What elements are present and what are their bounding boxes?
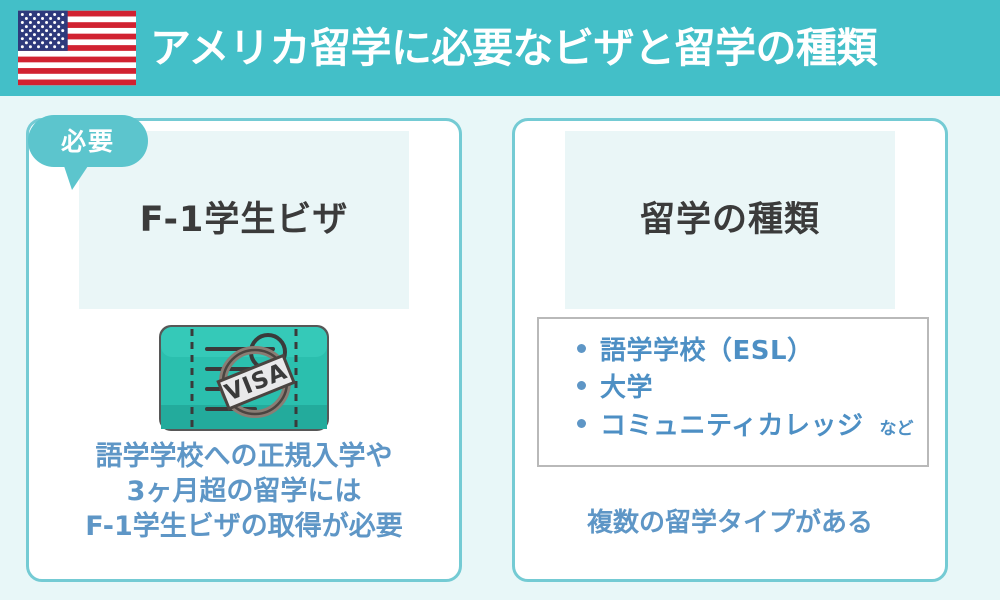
list-item: 大学 [539,371,927,405]
card-study-types: 留学の種類 語学学校（ESL） 大学 コミュニティカレッジ など 複数の留学タイ… [512,118,948,582]
caption-line-3: F-1学生ビザの取得が必要 [29,509,459,544]
list-item-label: 語学学校（ESL） [600,334,814,368]
required-badge-label: 必要 [61,129,115,154]
study-types-list: 語学学校（ESL） 大学 コミュニティカレッジ など [537,317,929,467]
page-header: アメリカ留学に必要なビザと留学の種類 [0,0,1000,96]
list-item-suffix: など [879,414,913,439]
list-item-label: コミュニティカレッジ [600,409,863,443]
required-badge: 必要 [28,115,148,167]
card-study-types-caption: 複数の留学タイプがある [515,507,945,541]
bullet-dot-icon [577,419,586,428]
visa-card-icon: VISA [155,319,333,437]
card-visa-caption: 語学学校への正規入学や 3ヶ月超の留学には F-1学生ビザの取得が必要 [29,439,459,544]
us-flag-icon [18,9,136,87]
caption-line-2: 3ヶ月超の留学には [29,474,459,509]
bullet-dot-icon [577,344,586,353]
list-item-label: 大学 [600,371,653,405]
card-study-types-title-band: 留学の種類 [565,131,895,309]
card-visa-title: F-1学生ビザ [140,203,349,238]
page-title: アメリカ留学に必要なビザと留学の種類 [150,28,877,69]
list-item: コミュニティカレッジ など [539,409,927,443]
list-item: 語学学校（ESL） [539,334,927,368]
bullet-dot-icon [577,381,586,390]
card-study-types-title: 留学の種類 [640,203,820,238]
caption-line-1: 語学学校への正規入学や [29,439,459,474]
